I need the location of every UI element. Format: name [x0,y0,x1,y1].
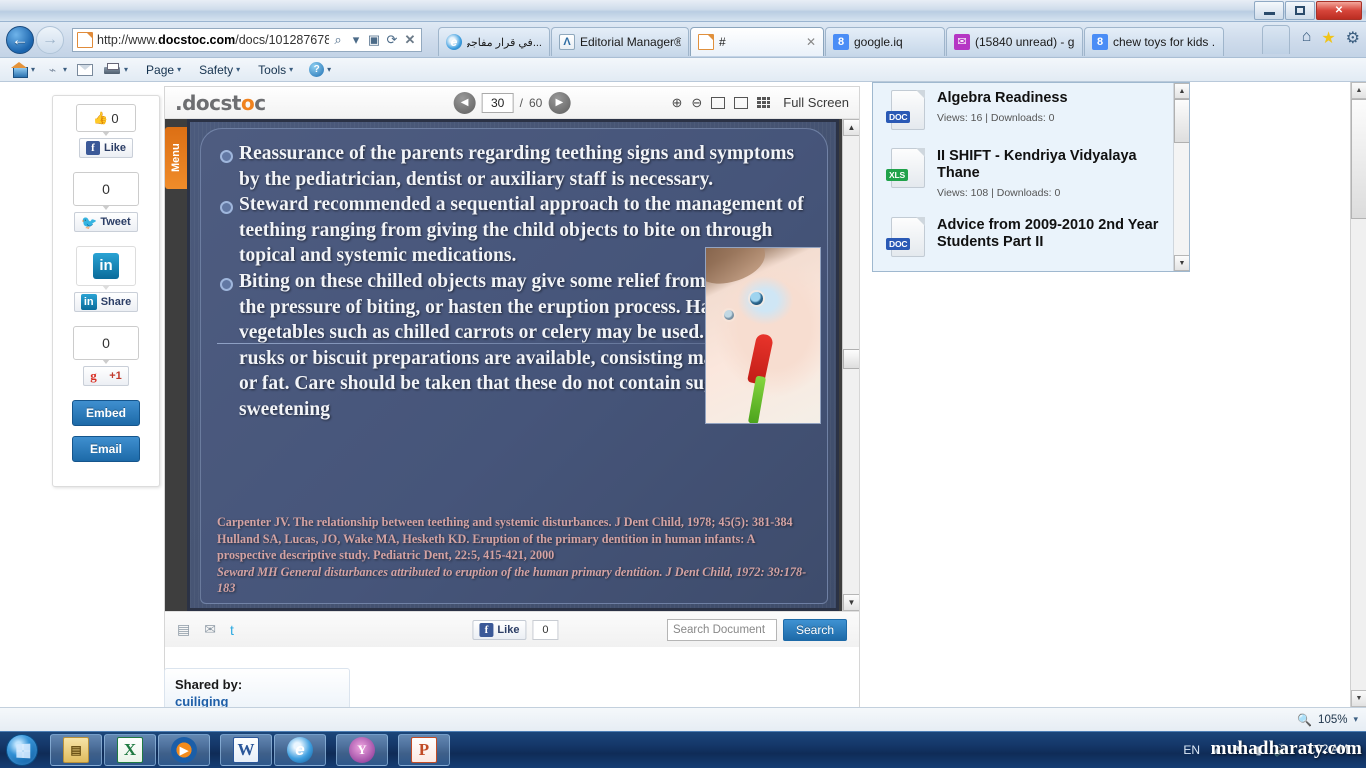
cmd-page-label: Page [146,63,174,77]
like-count: 0 [532,620,558,640]
page-scroll-thumb[interactable] [1351,99,1366,219]
tab-label: (15840 unread) - g... [975,35,1075,49]
zoom-icon[interactable]: 🔍 [1297,713,1312,727]
taskbar-yahoo-messenger[interactable]: Y [336,734,388,766]
viewer-toolbar: .docstoc ◀ 30 / 60 ▶ ⊕ ⊖ Full Screen [165,87,859,119]
tab-strip: ...في قرار مفاجيء.. الع Editorial Manage… [438,25,1225,56]
browser-status-bar: 🔍 105% ▾ [0,707,1366,731]
mail-icon [77,64,93,76]
facebook-like-button[interactable]: f Like [79,138,133,158]
cmd-page-menu[interactable]: Page ▾ [142,61,185,79]
tab-label: # [719,35,726,49]
related-title[interactable]: II SHIFT - Kendriya Vidyalaya Thane [937,148,1163,182]
taskbar-items: ▤ X ▶ W e Y P [50,734,450,766]
language-indicator[interactable]: EN [1183,743,1200,757]
address-search-icon[interactable]: ⌕ [329,32,347,48]
chevron-down-icon: ▾ [124,65,128,74]
related-scroll-up-button[interactable]: ▲ [1174,83,1190,99]
taskbar-microsoft-word[interactable]: W [220,734,272,766]
embed-button[interactable]: Embed [72,400,140,426]
word-icon: W [233,737,259,763]
linkedin-icon: in [81,294,97,310]
page-scroll-down-button[interactable]: ▼ [1351,690,1366,707]
twitter-icon: 🐦 [81,216,96,229]
cmd-print-button[interactable]: ▾ [99,61,132,79]
zoom-chevron-down-icon[interactable]: ▾ [1353,714,1358,725]
folder-icon: ▤ [63,737,89,763]
list-item[interactable]: XLS II SHIFT - Kendriya Vidyalaya Thane … [873,139,1173,208]
tab-chew-toys[interactable]: 8 chew toys for kids ... [1084,27,1224,56]
related-title[interactable]: Algebra Readiness [937,90,1068,107]
zoom-level-label[interactable]: 105% [1318,714,1347,726]
related-scroll-down-button[interactable]: ▼ [1174,255,1190,271]
window-titlebar: ✕ [0,0,1366,22]
cmd-home-button[interactable]: ▾ [8,61,39,79]
search-button[interactable]: Search [783,619,847,641]
facebook-like-label: Like [104,142,126,154]
address-dropdown-icon[interactable]: ▾ [347,32,365,48]
tab-editorial-manager[interactable]: Editorial Manager® [551,27,689,56]
screen-root: ✕ ← → http://www.docstoc.com/docs/101287… [0,0,1366,768]
linkedin-count-bubble: in [76,246,136,286]
document-info-icon[interactable]: ▤ [177,621,190,638]
email-icon[interactable]: ✉ [204,621,216,638]
page-favicon-icon [77,32,93,48]
cmd-tools-menu[interactable]: Tools ▾ [254,61,297,79]
related-documents-list: Views: 20 | Downloads: 0 DOC Algebra Rea… [873,82,1173,266]
home-icon [12,63,28,77]
presentation-slide: Reassurance of the parents regarding tee… [187,119,839,611]
tab-label: Editorial Manager® [580,35,681,49]
shared-by-label: Shared by: [175,677,349,692]
thumbnails-icon[interactable] [757,97,770,109]
page-separator: / [520,96,523,110]
fit-width-icon[interactable] [711,97,725,109]
address-bar[interactable]: http://www.docstoc.com/docs/101287678/GR… [72,28,422,52]
reference-item: Carpenter JV. The relationship between t… [217,514,813,531]
slide-content: Reassurance of the parents regarding tee… [200,128,828,604]
home-icon[interactable]: ⌂ [1302,28,1312,48]
chevron-down-icon: ▾ [236,65,240,74]
tweet-label: Tweet [100,216,130,228]
previous-page-button[interactable]: ◀ [454,92,476,114]
zoom-in-icon[interactable]: ⊕ [671,95,682,111]
document-search-group: Search Document Search [667,619,847,641]
tab-google-iq[interactable]: 8 google.iq [825,27,945,56]
slide-scrollbar[interactable]: ▲ ▼ [842,119,859,611]
linkedin-share-label: Share [101,296,132,308]
xls-badge: XLS [886,169,908,181]
minimize-button[interactable] [1254,1,1284,20]
refresh-icon[interactable]: ⟳ [383,32,401,48]
docstoc-logo[interactable]: .docstoc [175,91,266,115]
tab-label: ...في قرار مفاجيء.. الع [467,36,542,49]
google-icon: 8 [1092,34,1108,50]
google-plus-count-bubble: 0 [73,326,139,360]
back-button[interactable]: ← [6,26,34,54]
cmd-tools-label: Tools [258,63,286,77]
settings-gear-icon[interactable]: ⚙ [1346,28,1360,48]
list-item[interactable]: DOC Algebra Readiness Views: 16 | Downlo… [873,82,1173,139]
reference-item: Hulland SA, Lucas, JO, Wake MA, Hesketh … [217,531,813,564]
like-label: Like [497,624,519,636]
document-viewer: .docstoc ◀ 30 / 60 ▶ ⊕ ⊖ Full Screen [164,86,860,707]
browser-command-bar: ▾ ⌁ ▾ ▾ Page ▾ Safety ▾ Tools ▾ ? ▾ [0,58,1366,82]
twitter-count-bubble: 0 [73,172,139,206]
taskbar-microsoft-excel[interactable]: X [104,734,156,766]
thumbs-up-icon: 👍 [93,111,108,125]
editorial-manager-icon [559,34,575,50]
forward-button[interactable]: → [36,26,64,54]
taskbar-microsoft-powerpoint[interactable]: P [398,734,450,766]
viewer-tools: ⊕ ⊖ Full Screen [671,95,849,111]
baby-chewing-teether-photo [705,247,821,424]
taskbar-windows-explorer[interactable]: ▤ [50,734,102,766]
start-button[interactable] [6,734,38,766]
google-plus-icon: g [90,369,105,383]
twitter-tweet-button[interactable]: 🐦 Tweet [74,212,137,232]
slide-scroll-down-button[interactable]: ▼ [843,594,859,611]
page-scrollbar[interactable]: ▲ ▼ [1350,82,1366,707]
slide-bullet: Reassurance of the parents regarding tee… [217,141,813,192]
compatibility-view-icon[interactable]: ▣ [365,32,383,48]
tab-label: google.iq [854,35,903,49]
printer-icon [103,63,121,77]
doc-badge: DOC [886,238,910,250]
window-controls: ✕ [1254,1,1362,20]
tab-label: chew toys for kids ... [1113,35,1216,49]
taskbar-windows-media-player[interactable]: ▶ [158,734,210,766]
fit-page-icon[interactable] [734,97,748,109]
maximize-button[interactable] [1285,1,1315,20]
email-button[interactable]: Email [72,436,140,462]
facebook-like-button[interactable]: f Like [472,620,526,640]
twitter-icon[interactable]: t [230,622,234,638]
internet-explorer-icon: e [287,737,313,763]
favorites-star-icon[interactable]: ★ [1321,28,1335,48]
facebook-like-group: f Like 0 [472,620,558,640]
facebook-like-count-bubble: 👍0 [76,104,136,132]
tab-docstoc-active[interactable]: # ✕ [690,27,824,56]
shared-by-username[interactable]: cuiliging [175,694,349,707]
slide-canvas[interactable]: Menu Reassurance of the parents regardin… [165,119,859,611]
linkedin-share-button[interactable]: in Share [74,292,139,312]
chevron-down-icon: ▾ [63,65,67,74]
chevron-down-icon: ▾ [327,65,331,74]
xls-file-icon: XLS [891,148,925,188]
address-url-text: http://www.docstoc.com/docs/101287678/GR… [97,33,329,47]
mail-icon [954,34,970,50]
search-document-input[interactable]: Search Document [667,619,777,641]
minimize-icon [1264,12,1275,15]
new-tab-button[interactable] [1262,25,1290,54]
tab-arabic-news[interactable]: ...في قرار مفاجيء.. الع [438,27,550,56]
maximize-icon [1295,6,1305,15]
slide-scroll-thumb[interactable] [843,349,859,369]
reference-item: Seward MH General disturbances attribute… [217,564,813,597]
plusone-label: +1 [109,370,122,382]
related-title[interactable]: Advice from 2009-2010 2nd Year Students … [937,217,1163,251]
page-scroll-up-button[interactable]: ▲ [1351,82,1366,99]
linkedin-icon: in [93,253,119,279]
doc-icon [698,34,714,50]
cmd-help-menu[interactable]: ? ▾ [305,60,335,79]
windows-taskbar: ▤ X ▶ W e Y P EN ▲ ⚑ ▮ 🔊 7:02 AM [0,731,1366,768]
media-player-icon: ▶ [171,737,197,763]
doc-file-icon: DOC [891,90,925,130]
taskbar-internet-explorer[interactable]: e [274,734,326,766]
google-plusone-button[interactable]: g +1 [83,366,129,386]
slide-references: Carpenter JV. The relationship between t… [217,514,813,597]
stop-icon[interactable]: ✕ [401,32,419,48]
yahoo-icon: Y [349,737,375,763]
twitter-count: 0 [102,181,110,197]
chevron-down-icon: ▾ [289,65,293,74]
related-meta: Views: 16 | Downloads: 0 [937,112,1068,124]
rss-icon: ⌁ [45,63,60,77]
related-meta: Views: 108 | Downloads: 0 [937,187,1163,199]
facebook-icon: f [479,623,493,637]
cmd-mail-button[interactable] [73,62,97,78]
tab-close-icon[interactable]: ✕ [798,35,816,49]
google-icon: 8 [833,34,849,50]
google-plus-count: 0 [102,335,110,351]
viewer-menu-tab[interactable]: Menu [165,127,187,189]
facebook-icon: f [86,141,100,155]
help-icon: ? [309,62,324,77]
ie-icon [446,34,462,50]
chevron-down-icon: ▾ [31,65,35,74]
list-item[interactable]: DOC Advice from 2009-2010 2nd Year Stude… [873,208,1173,266]
social-share-sidebar: 👍0 f Like 0 🐦 Tweet in in Share 0 [52,95,160,487]
doc-badge: DOC [886,111,910,123]
viewer-bottom-toolbar: ▤ ✉ t f Like 0 Search Document Search [165,611,859,647]
shared-by-panel: Shared by: cuiliging [164,668,350,707]
related-scroll-thumb[interactable] [1174,99,1190,143]
page-number-input[interactable]: 30 [482,93,514,113]
site-watermark: muhadharaty.com [1211,738,1362,760]
chevron-down-icon: ▾ [177,65,181,74]
doc-file-icon: DOC [891,217,925,257]
facebook-like-count: 0 [111,111,118,126]
related-documents-panel: Views: 20 | Downloads: 0 DOC Algebra Rea… [872,82,1190,272]
related-scrollbar[interactable]: ▲ ▼ [1173,83,1189,271]
web-page-content: 👍0 f Like 0 🐦 Tweet in in Share 0 [0,82,1366,707]
close-button[interactable]: ✕ [1316,1,1362,20]
browser-toolbar-icons: ⌂ ★ ⚙ [1302,28,1360,48]
cmd-safety-label: Safety [199,63,233,77]
page-navigation: ◀ 30 / 60 ▶ [454,92,571,114]
fullscreen-button[interactable]: Full Screen [783,95,849,110]
powerpoint-icon: P [411,737,437,763]
cmd-feeds-button[interactable]: ⌁ ▾ [41,61,71,79]
cmd-safety-menu[interactable]: Safety ▾ [195,61,244,79]
excel-icon: X [117,737,143,763]
next-page-button[interactable]: ▶ [548,92,570,114]
total-pages-label: 60 [529,96,542,110]
slide-scroll-up-button[interactable]: ▲ [843,119,859,136]
zoom-out-icon[interactable]: ⊖ [691,95,702,111]
tab-gmail-unread[interactable]: (15840 unread) - g... [946,27,1083,56]
